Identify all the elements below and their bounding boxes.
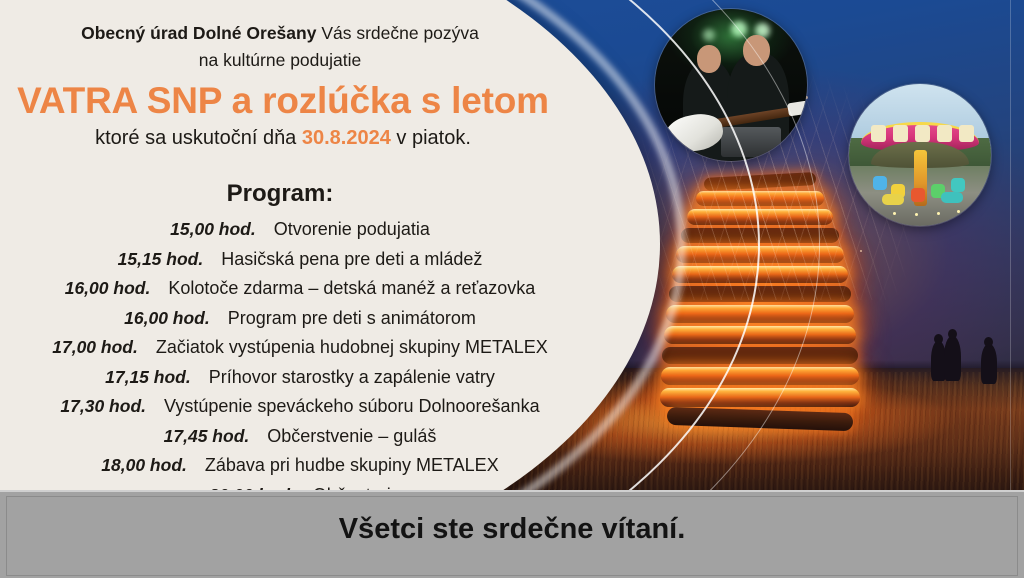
carousel-photo — [849, 84, 991, 226]
program-description: Príhovor starostky a zapálenie vatry — [209, 363, 495, 393]
program-time: 18,00 hod. — [101, 451, 205, 481]
program-description: Otvorenie podujatia — [274, 215, 430, 245]
poster-canvas: Obecný úrad Dolné Orešany Vás srdečne po… — [0, 0, 1024, 578]
person-silhouette — [981, 344, 997, 384]
program-description: Program pre deti s animátorom — [228, 304, 476, 334]
program-description: Občerstvenie – guláš — [267, 422, 436, 452]
date-prefix: ktoré sa uskutoční dňa — [95, 127, 302, 149]
program-row: 16,00 hod.Program pre deti s animátorom — [0, 304, 600, 334]
date-suffix: v piatok. — [391, 127, 471, 149]
event-date: 30.8.2024 — [302, 127, 391, 149]
program-description: Hasičská pena pre deti a mládež — [221, 245, 482, 275]
program-row: 15,15 hod.Hasičská pena pre deti a mláde… — [0, 245, 600, 275]
invitation-line-1-rest: Vás srdečne pozýva — [316, 23, 478, 43]
text-column: Obecný úrad Dolné Orešany Vás srdečne po… — [0, 0, 600, 490]
program-heading: Program: — [0, 180, 560, 208]
person-silhouette — [944, 336, 961, 381]
program-time: 17,45 hod. — [164, 422, 268, 452]
program-time: 15,00 hod. — [170, 215, 274, 245]
invitation-text: Obecný úrad Dolné Orešany Vás srdečne po… — [0, 20, 560, 74]
program-list: 15,00 hod.Otvorenie podujatia15,15 hod.H… — [0, 215, 600, 510]
program-time: 17,15 hod. — [105, 363, 209, 393]
program-row: 16,00 hod.Kolotoče zdarma – detská manéž… — [0, 274, 600, 304]
program-row: 17,15 hod.Príhovor starostky a zapálenie… — [0, 363, 600, 393]
welcome-message: Všetci ste srdečne vítaní. — [0, 490, 1024, 578]
program-row: 18,00 hod.Zábava pri hudbe skupiny METAL… — [0, 451, 600, 481]
program-time: 15,15 hod. — [118, 245, 222, 275]
page-title: VATRA SNP a rozlúčka s letom — [0, 80, 566, 122]
program-row: 17,30 hod.Vystúpenie speváckeho súboru D… — [0, 392, 600, 422]
program-description: Vystúpenie speváckeho súboru Dolnoorešan… — [164, 392, 540, 422]
program-row: 17,45 hod.Občerstvenie – guláš — [0, 422, 600, 452]
program-time: 16,00 hod. — [124, 304, 228, 334]
program-time: 16,00 hod. — [65, 274, 169, 304]
organizer-name: Obecný úrad Dolné Orešany — [81, 23, 316, 43]
program-description: Kolotoče zdarma – detská manéž a reťazov… — [168, 274, 535, 304]
program-row: 15,00 hod.Otvorenie podujatia — [0, 215, 600, 245]
program-description: Začiatok vystúpenia hudobnej skupiny MET… — [156, 333, 548, 363]
slide-border-line — [1010, 0, 1011, 490]
program-time: 17,30 hod. — [60, 392, 164, 422]
event-date-line: ktoré sa uskutoční dňa 30.8.2024 v piato… — [0, 127, 566, 150]
invitation-line-2: na kultúrne podujatie — [0, 47, 560, 74]
program-time: 17,00 hod. — [52, 333, 156, 363]
program-description: Zábava pri hudbe skupiny METALEX — [205, 451, 499, 481]
invitation-line-1: Obecný úrad Dolné Orešany Vás srdečne po… — [0, 20, 560, 47]
program-row: 17,00 hod.Začiatok vystúpenia hudobnej s… — [0, 333, 600, 363]
